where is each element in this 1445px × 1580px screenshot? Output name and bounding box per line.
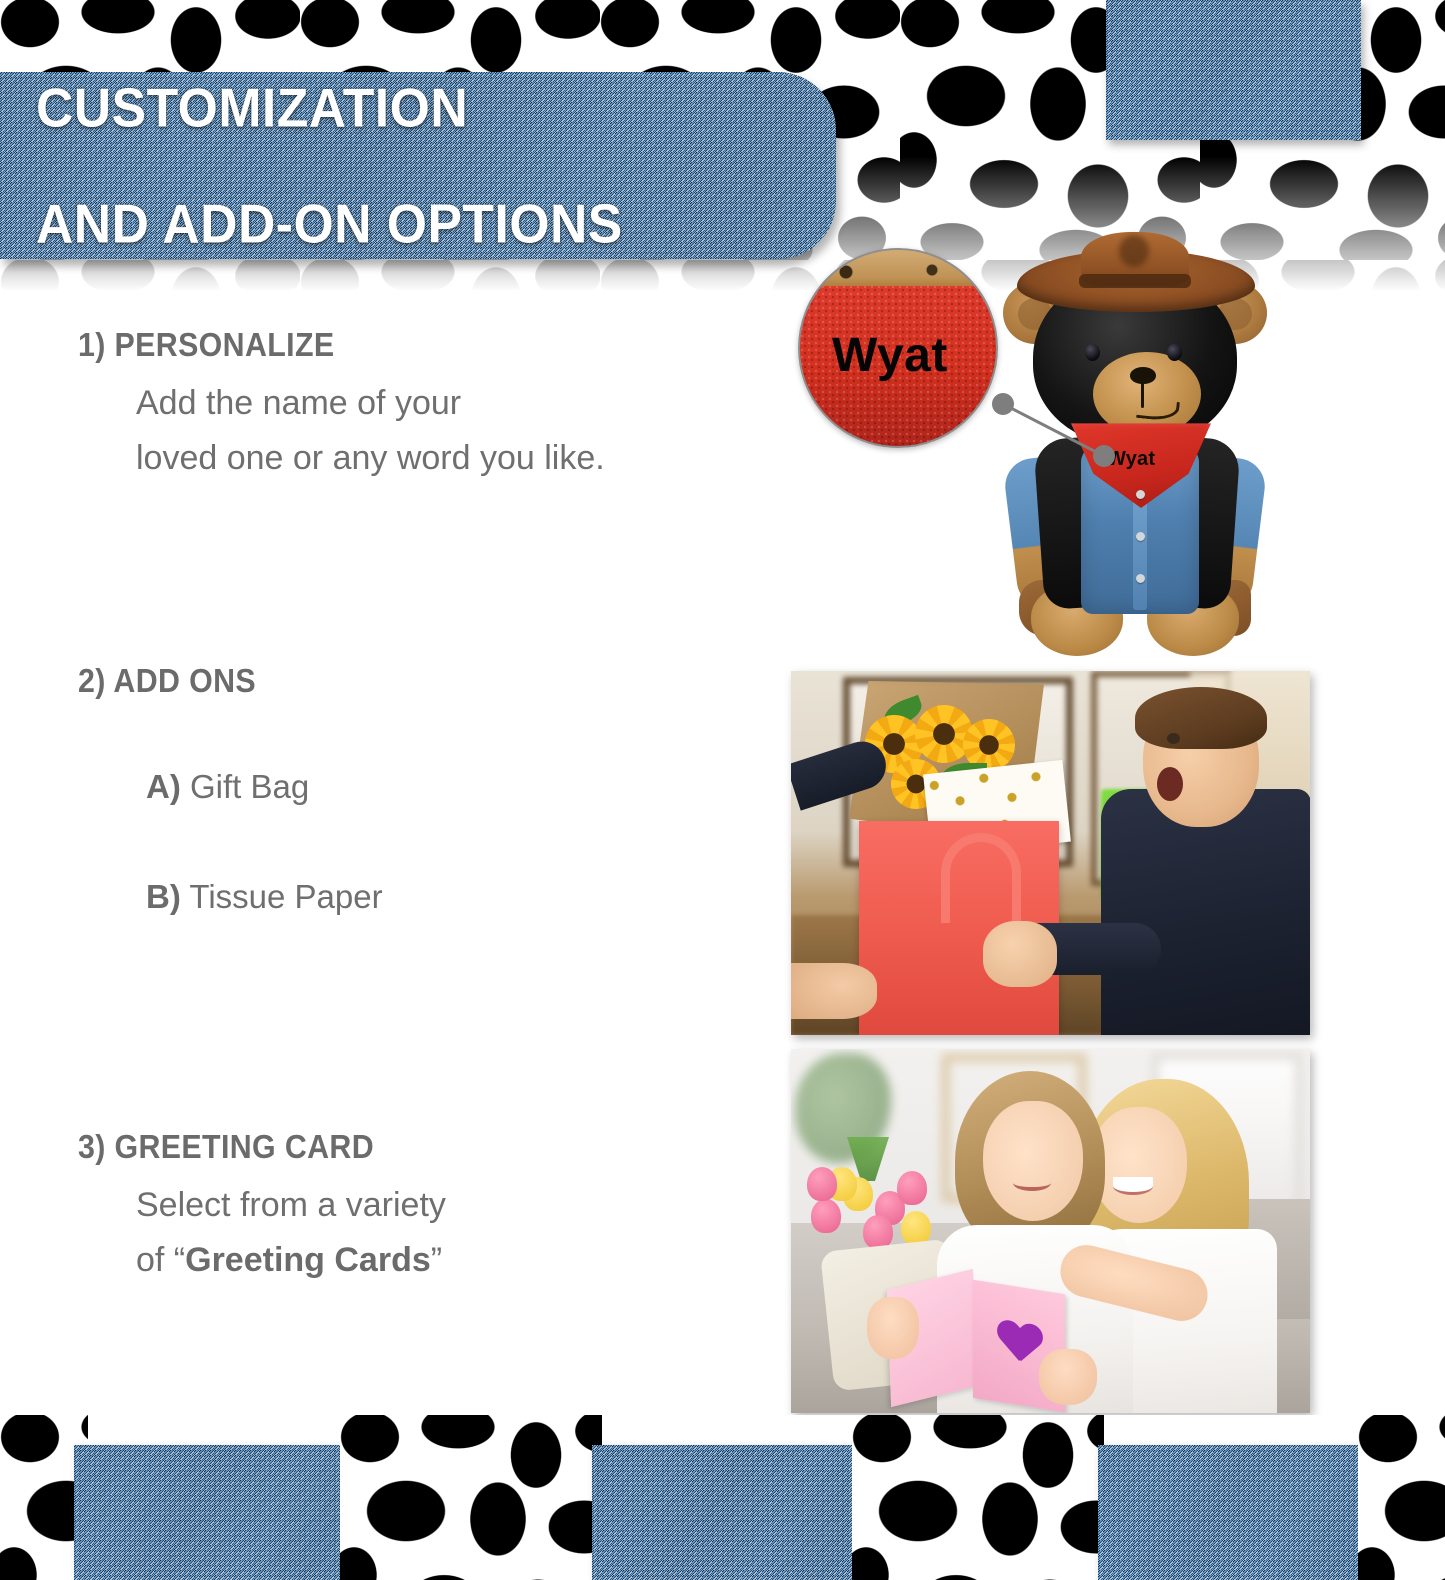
bandana-personalized-name: Wyat <box>1107 448 1155 471</box>
shirt-button-1 <box>1136 490 1145 499</box>
add-on-a-mark: A) <box>146 768 181 805</box>
bear-fur-edge <box>800 250 996 286</box>
add-on-item-tissue-paper: B) Tissue Paper <box>0 878 790 916</box>
boy-eye <box>1167 733 1180 744</box>
step-greeting-card: 3) GREETING CARD Select from a variety o… <box>0 1128 790 1288</box>
teddy-bear-figure: Wyat <box>985 232 1285 662</box>
step-personalize: 1) PERSONALIZE Add the name of your love… <box>0 326 790 486</box>
gift-bag-handle <box>941 833 1021 923</box>
heart-icon <box>997 1319 1043 1368</box>
mother-smile <box>1113 1177 1153 1195</box>
bottom-panel-cow-4 <box>1358 1415 1445 1580</box>
daughter-face <box>983 1101 1083 1221</box>
add-on-item-gift-bag: A) Gift Bag <box>0 768 790 806</box>
step-3-heading: 3) GREETING CARD <box>0 1128 790 1166</box>
shirt-button-3 <box>1136 574 1145 583</box>
steps-column: 1) PERSONALIZE Add the name of your love… <box>0 0 790 1415</box>
step-1-body: Add the name of your loved one or any wo… <box>0 376 790 486</box>
add-on-b-mark: B) <box>146 878 181 915</box>
boy-hair <box>1135 687 1267 749</box>
add-on-b-label: Tissue Paper <box>181 878 383 915</box>
mother-face <box>1091 1107 1187 1223</box>
bottom-panel-cow-3 <box>852 1415 1104 1580</box>
daughter-smile <box>1013 1175 1051 1191</box>
bear-eye-left <box>1085 344 1100 361</box>
cowboy-hat-dent <box>1119 235 1149 267</box>
add-on-a-label: Gift Bag <box>181 768 309 805</box>
boy-open-mouth <box>1157 767 1183 801</box>
bear-muzzle <box>1093 352 1201 436</box>
greeting-suffix: ” <box>431 1241 442 1279</box>
bottom-decorative-strip <box>0 1415 1445 1580</box>
bottom-panel-denim-3 <box>1098 1445 1366 1580</box>
daughter-hand-left <box>867 1297 919 1359</box>
bottom-panel-cow-2 <box>340 1415 602 1580</box>
denim-swatch-top-right <box>1106 0 1361 140</box>
magnifier-callout-circle: Wyat <box>798 248 998 448</box>
step-1-heading: 1) PERSONALIZE <box>0 326 790 364</box>
greeting-card-photo <box>791 1049 1310 1413</box>
adult-hand <box>791 963 877 1019</box>
gift-bag-photo <box>791 671 1310 1035</box>
boy-hand <box>983 921 1057 987</box>
bear-eye-right <box>1167 344 1182 361</box>
cowboy-hat-band <box>1079 274 1191 288</box>
step-3-body: Select from a variety of “Greeting Cards… <box>0 1178 790 1288</box>
greeting-cards-emphasis: Greeting Cards <box>185 1241 431 1279</box>
product-image-teddy-bear: Wyat Wyat <box>790 222 1330 672</box>
bottom-panel-denim-2 <box>592 1445 860 1580</box>
shirt-button-2 <box>1136 532 1145 541</box>
step-2-heading: 2) ADD ONS <box>0 662 790 700</box>
daughter-hand-right <box>1039 1349 1097 1405</box>
bottom-panel-denim-1 <box>74 1445 346 1580</box>
step-add-ons: 2) ADD ONS <box>0 662 790 700</box>
magnifier-personalized-name: Wyat <box>832 328 948 383</box>
